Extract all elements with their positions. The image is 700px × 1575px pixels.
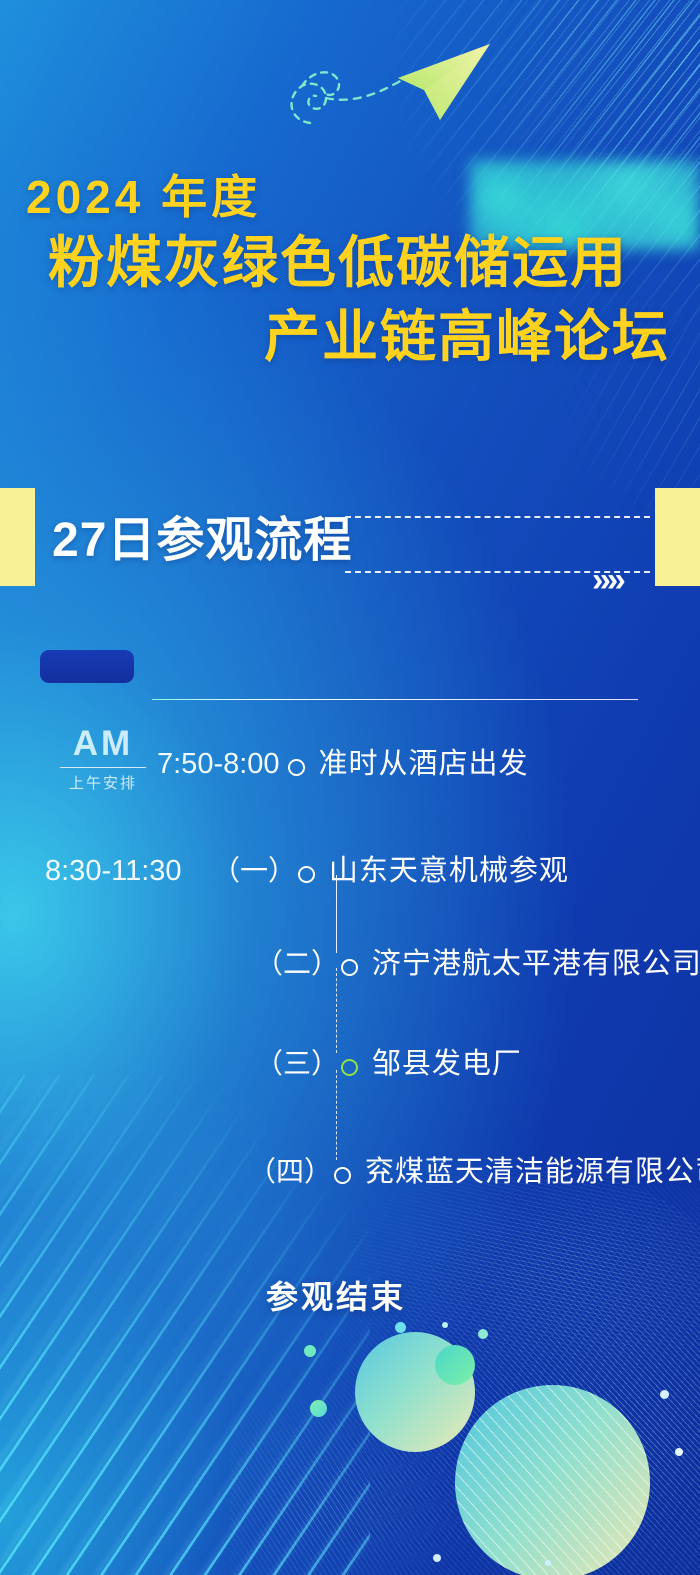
schedule-ordinal: （四） [248, 1156, 332, 1187]
schedule-time: 8:30-11:30 [45, 855, 182, 887]
plane-body [398, 44, 490, 120]
schedule-ordinal: （二） [255, 948, 339, 979]
schedule-label: 邹县发电厂 [372, 1048, 522, 1080]
timeline-circle-marker-icon [298, 866, 315, 883]
decorative-dot [304, 1345, 316, 1357]
schedule-ordinal: （一） [212, 855, 296, 886]
timeline-circle-marker-icon [341, 959, 358, 976]
title-line-2: 粉煤灰绿色低碳储运用 [0, 226, 700, 300]
schedule-label: 山东天意机械参观 [329, 855, 569, 887]
paper-plane-icon [280, 28, 510, 148]
timeline-connector-3 [336, 1070, 337, 1160]
schedule-row: 8:30-11:30 （一） 山东天意机械参观 [45, 847, 569, 889]
gradient-sphere-accent [435, 1345, 475, 1385]
title-line-3: 产业链高峰论坛 [0, 300, 700, 374]
schedule-row: （三） 邹县发电厂 [255, 1040, 522, 1082]
decorative-dot [675, 1448, 683, 1456]
section-header-band: 27日参观流程 »» [0, 488, 700, 586]
schedule-ordinal: （三） [255, 1048, 339, 1079]
section-pill-decoration [40, 650, 134, 683]
plane-wing [398, 44, 490, 90]
heart-trail-dashed-path [292, 84, 326, 123]
timeline-circle-marker-icon [288, 759, 305, 776]
period-badge: AM 上午安排 [48, 724, 158, 793]
end-of-visit-text: 参观结束 [266, 1272, 406, 1318]
decorative-dot [660, 1390, 669, 1399]
decorative-dot [310, 1400, 327, 1417]
double-chevron-right-icon: »» [592, 566, 622, 594]
schedule-label: 准时从酒店出发 [318, 748, 528, 780]
decorative-dot [545, 1560, 551, 1566]
period-label: 上午安排 [48, 772, 158, 793]
period-abbr: AM [48, 724, 158, 764]
section-divider-line [152, 699, 638, 700]
paper-plane-graphic [280, 28, 510, 148]
band-accent-bar-left [0, 488, 35, 586]
decorative-dot [478, 1329, 488, 1339]
timeline-circle-marker-icon [334, 1167, 351, 1184]
schedule-label: 兖煤蓝天清洁能源有限公司 [365, 1156, 700, 1188]
poster-title: 2024 年度 粉煤灰绿色低碳储运用 产业链高峰论坛 [0, 168, 700, 374]
title-line-1: 2024 年度 [0, 168, 700, 226]
schedule-time: 7:50-8:00 [157, 748, 280, 780]
band-dashed-line-top [345, 516, 650, 518]
decorative-dot [395, 1322, 406, 1333]
decorative-dot [442, 1322, 448, 1328]
decorative-dot [433, 1554, 441, 1562]
plane-trail-path [326, 80, 402, 100]
gradient-sphere-large [455, 1385, 650, 1575]
heart-trail-upper-path [302, 72, 339, 95]
schedule-label: 济宁港航太平港有限公司 [372, 948, 700, 980]
poster-canvas: 2024 年度 粉煤灰绿色低碳储运用 产业链高峰论坛 27日参观流程 »» AM… [0, 0, 700, 1575]
timeline-circle-marker-green-icon [341, 1059, 358, 1076]
band-accent-bar-right [655, 488, 700, 586]
schedule-row: 7:50-8:00 准时从酒店出发 [157, 740, 528, 782]
period-rule-divider [60, 767, 146, 768]
section-heading: 27日参观流程 [52, 500, 352, 570]
schedule-row: （四） 兖煤蓝天清洁能源有限公司 [248, 1148, 700, 1190]
schedule-row: （二） 济宁港航太平港有限公司 [255, 940, 700, 982]
